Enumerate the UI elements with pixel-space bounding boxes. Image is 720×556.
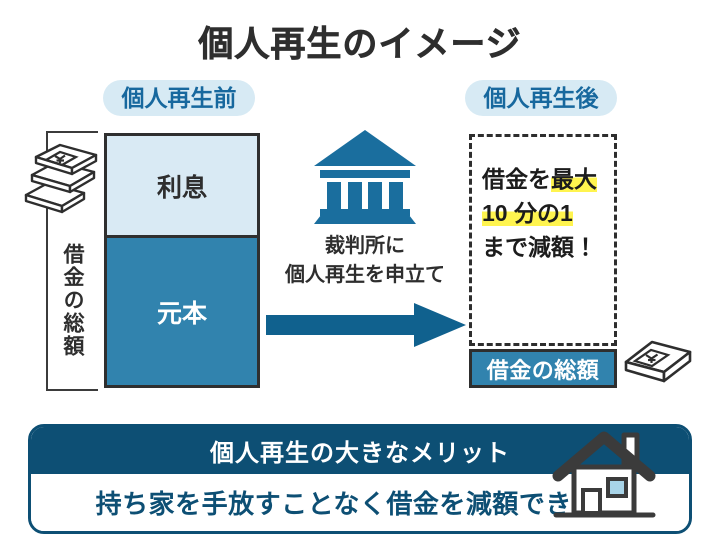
- reduction-line-3: まで減額！: [482, 230, 614, 264]
- total-debt-label: 借金の総額: [52, 243, 92, 358]
- house-icon: [552, 427, 657, 524]
- money-stack-icon: [22, 143, 100, 218]
- reduction-line-1-plain: 借金を: [482, 166, 551, 192]
- court-caption-line-2: 個人再生を申立て: [262, 261, 468, 290]
- before-debt-bar: 利息 元本: [104, 133, 260, 388]
- before-section-label: 個人再生前: [103, 80, 255, 116]
- reduction-line-1: 借金を最大: [482, 162, 614, 196]
- reduction-line-2: 10 分の1: [482, 196, 614, 230]
- after-section-label: 個人再生後: [465, 80, 617, 116]
- reduction-line-1-highlight: 最大: [551, 166, 597, 192]
- infographic-canvas: 個人再生のイメージ 個人再生前 借金の総額 利息 元: [0, 0, 720, 556]
- after-total-debt-box: 借金の総額: [469, 349, 617, 388]
- courthouse-icon: [310, 126, 420, 226]
- page-title: 個人再生のイメージ: [0, 16, 720, 67]
- bar-segment-interest: 利息: [107, 136, 257, 238]
- right-arrow-icon: [266, 302, 466, 348]
- bar-segment-principal: 元本: [107, 238, 257, 385]
- money-bundle-icon: [622, 334, 694, 386]
- court-filing-caption: 裁判所に 個人再生を申立て: [262, 232, 468, 290]
- reduction-line-2-highlight: 10 分の1: [482, 200, 573, 226]
- reduction-message: 借金を最大 10 分の1 まで減額！: [474, 162, 614, 264]
- court-caption-line-1: 裁判所に: [262, 232, 468, 261]
